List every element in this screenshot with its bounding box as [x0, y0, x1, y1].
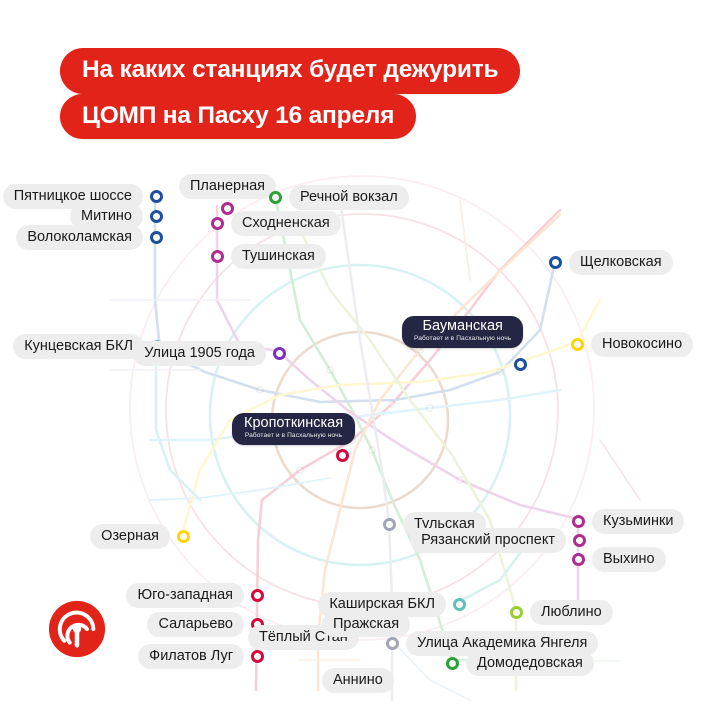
- station-25[interactable]: Филатов Луг: [0, 644, 264, 669]
- station-3[interactable]: Планерная: [179, 174, 276, 215]
- station-dot-12[interactable]: [336, 449, 349, 462]
- station-7[interactable]: Щелковская: [549, 250, 673, 275]
- station-dot-icon: [573, 534, 586, 547]
- station-dot-icon: [150, 210, 163, 223]
- station-11[interactable]: БауманскаяРаботает и в Пасхальную ночь: [402, 316, 523, 348]
- station-dot-icon: [453, 598, 466, 611]
- station-label: Люблино: [530, 600, 613, 625]
- station-open-night-note: Работает и в Пасхальную ночь: [414, 335, 511, 343]
- station-4[interactable]: Сходненская: [211, 211, 341, 236]
- station-dot-icon: [446, 657, 459, 670]
- station-label: Аннино: [322, 668, 394, 693]
- station-dot-icon: [572, 515, 585, 528]
- station-label: Рязанский проспект: [410, 528, 566, 553]
- station-open-night-note: Работает и в Пасхальную ночь: [244, 432, 343, 440]
- station-dot-icon: [150, 231, 163, 244]
- station-dot-icon: [211, 250, 224, 263]
- station-dot-icon: [549, 256, 562, 269]
- station-6[interactable]: Речной вокзал: [269, 185, 409, 210]
- station-label: Речной вокзал: [289, 185, 409, 210]
- station-dot-icon: [571, 338, 584, 351]
- station-label: Саларьево: [147, 612, 244, 637]
- station-26[interactable]: Домодедовская: [446, 651, 594, 676]
- station-20[interactable]: Люблино: [510, 600, 613, 625]
- station-dot-icon: [211, 217, 224, 230]
- station-dot-icon: [572, 553, 585, 566]
- station-27[interactable]: Аннино: [322, 668, 394, 693]
- title-line-1: На каких станциях будет дежурить: [60, 48, 520, 94]
- station-label: БауманскаяРаботает и в Пасхальную ночь: [402, 316, 523, 348]
- station-5[interactable]: Тушинская: [211, 244, 326, 269]
- title-line-2: ЦОМП на Пасху 16 апреля: [60, 94, 416, 140]
- station-label: Домодедовская: [466, 651, 594, 676]
- station-12[interactable]: КропоткинскаяРаботает и в Пасхальную ноч…: [232, 413, 355, 445]
- station-dot-icon: [514, 358, 527, 371]
- infographic-canvas: .ln{fill:none;stroke-linecap:round;strok…: [0, 0, 720, 720]
- title-block: На каких станциях будет дежурить ЦОМП на…: [60, 48, 520, 139]
- station-21[interactable]: Саларьево: [0, 612, 264, 637]
- station-16[interactable]: Рязанский проспект: [0, 528, 586, 553]
- station-name: Бауманская: [414, 319, 511, 335]
- moscow-metro-logo: [48, 600, 106, 658]
- station-15[interactable]: Кузьминки: [572, 509, 684, 534]
- station-label: Сходненская: [231, 211, 341, 236]
- station-dot-icon: [510, 606, 523, 619]
- station-label: Волоколамская: [16, 225, 143, 250]
- station-9[interactable]: Улица 1905 года: [0, 341, 286, 366]
- station-label: Филатов Луг: [138, 644, 244, 669]
- station-label: Новокосино: [591, 332, 693, 357]
- station-dot-icon: [150, 190, 163, 203]
- station-17[interactable]: Выхино: [572, 547, 666, 572]
- station-name: Кропоткинская: [244, 416, 343, 432]
- station-label: Планерная: [179, 174, 276, 199]
- station-label: Улица 1905 года: [133, 341, 266, 366]
- station-dot-icon: [273, 347, 286, 360]
- station-label: Тушинская: [231, 244, 326, 269]
- station-dot-icon: [336, 449, 349, 462]
- station-10[interactable]: Новокосино: [571, 332, 693, 357]
- station-label: Кузьминки: [592, 509, 684, 534]
- station-dot-icon: [269, 191, 282, 204]
- station-2[interactable]: Волоколамская: [0, 225, 163, 250]
- station-dot-icon: [386, 637, 399, 650]
- station-label: Выхино: [592, 547, 666, 572]
- station-dot-11[interactable]: [514, 358, 527, 371]
- station-dot-icon: [251, 650, 264, 663]
- station-label: КропоткинскаяРаботает и в Пасхальную ноч…: [232, 413, 355, 445]
- station-label: Щелковская: [569, 250, 673, 275]
